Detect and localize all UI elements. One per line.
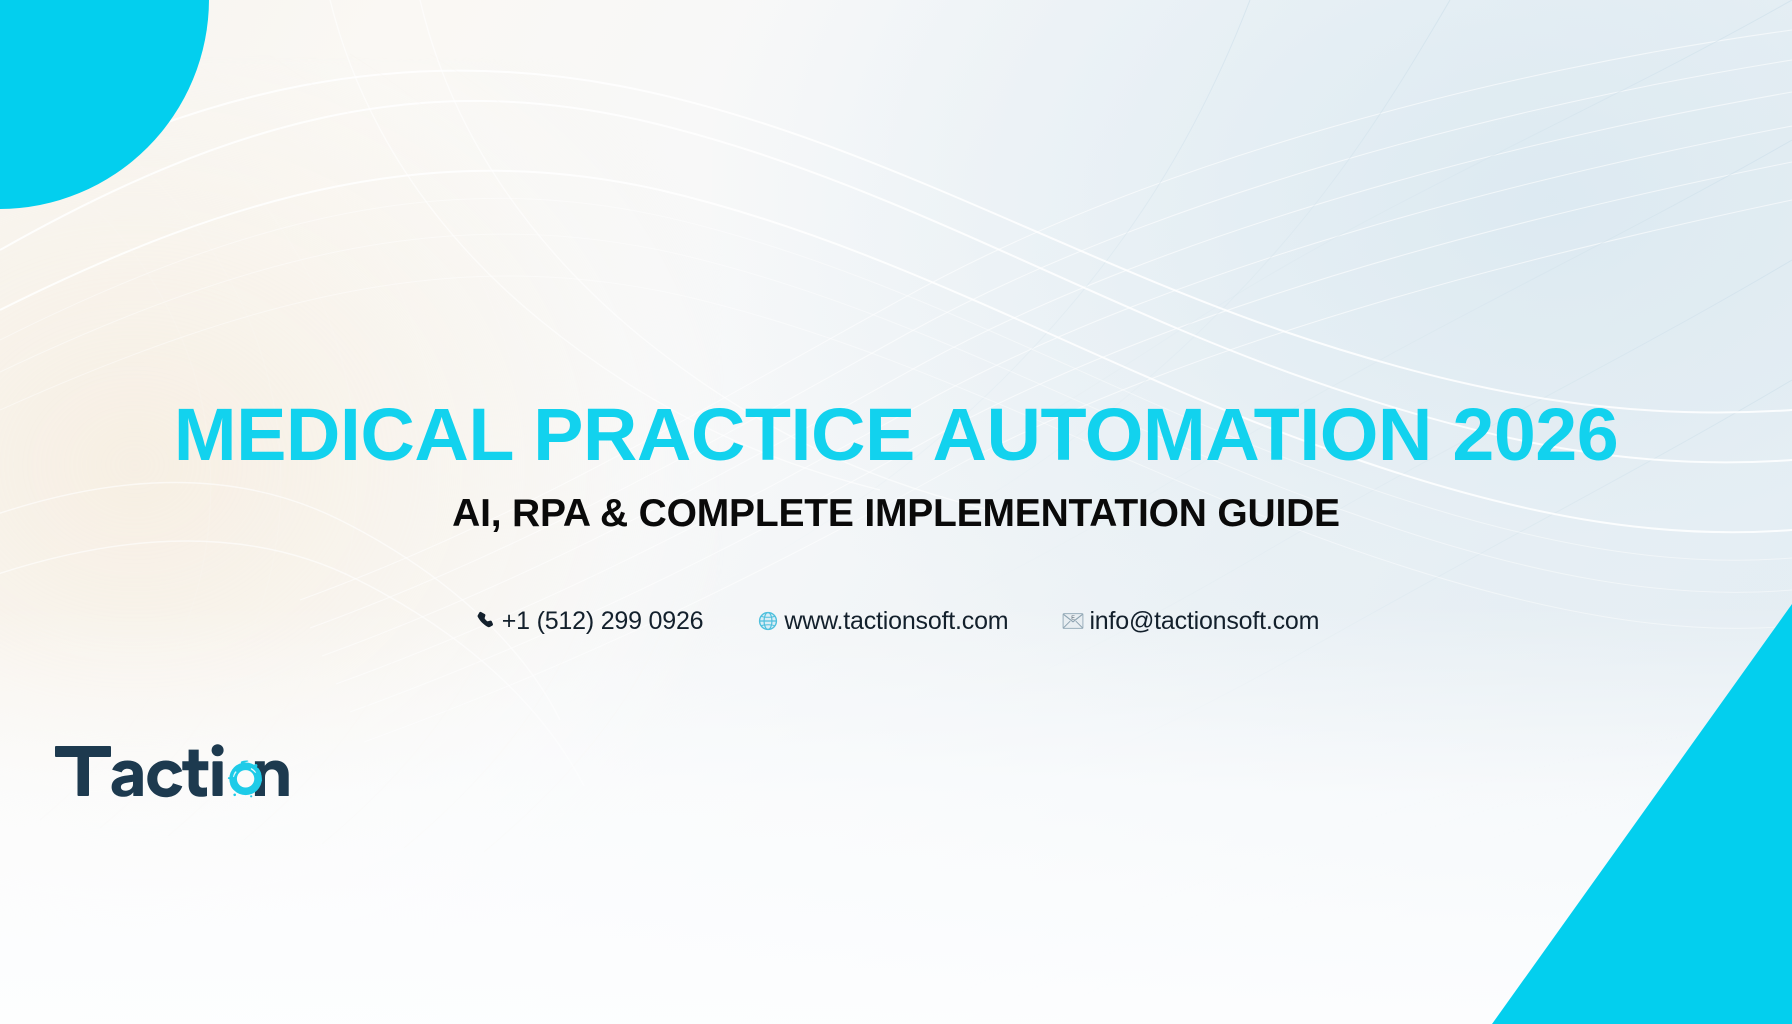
globe-icon — [755, 608, 781, 634]
cover-subtitle: AI, RPA & COMPLETE IMPLEMENTATION GUIDE — [0, 494, 1792, 533]
ebook-cover: MEDICAL PRACTICE AUTOMATION 2026 AI, RPA… — [0, 0, 1792, 1024]
contact-phone-label: +1 (512) 299 0926 — [502, 609, 704, 634]
contact-website[interactable]: www.tactionsoft.com — [755, 608, 1008, 634]
contact-website-label: www.tactionsoft.com — [784, 609, 1008, 634]
contact-email-label: info@tactionsoft.com — [1089, 609, 1319, 634]
contact-bar: +1 (512) 299 0926 www.tactionsoft.com — [0, 608, 1792, 634]
cover-title: MEDICAL PRACTICE AUTOMATION 2026 — [0, 398, 1792, 472]
email-icon: E — [1060, 608, 1086, 634]
cover-content: MEDICAL PRACTICE AUTOMATION 2026 AI, RPA… — [0, 0, 1792, 1024]
brand-logo[interactable]: Taction — [55, 740, 303, 810]
svg-text:E: E — [1072, 616, 1076, 622]
contact-phone[interactable]: +1 (512) 299 0926 — [473, 608, 704, 634]
contact-email[interactable]: E info@tactionsoft.com — [1060, 608, 1319, 634]
phone-icon — [473, 608, 499, 634]
